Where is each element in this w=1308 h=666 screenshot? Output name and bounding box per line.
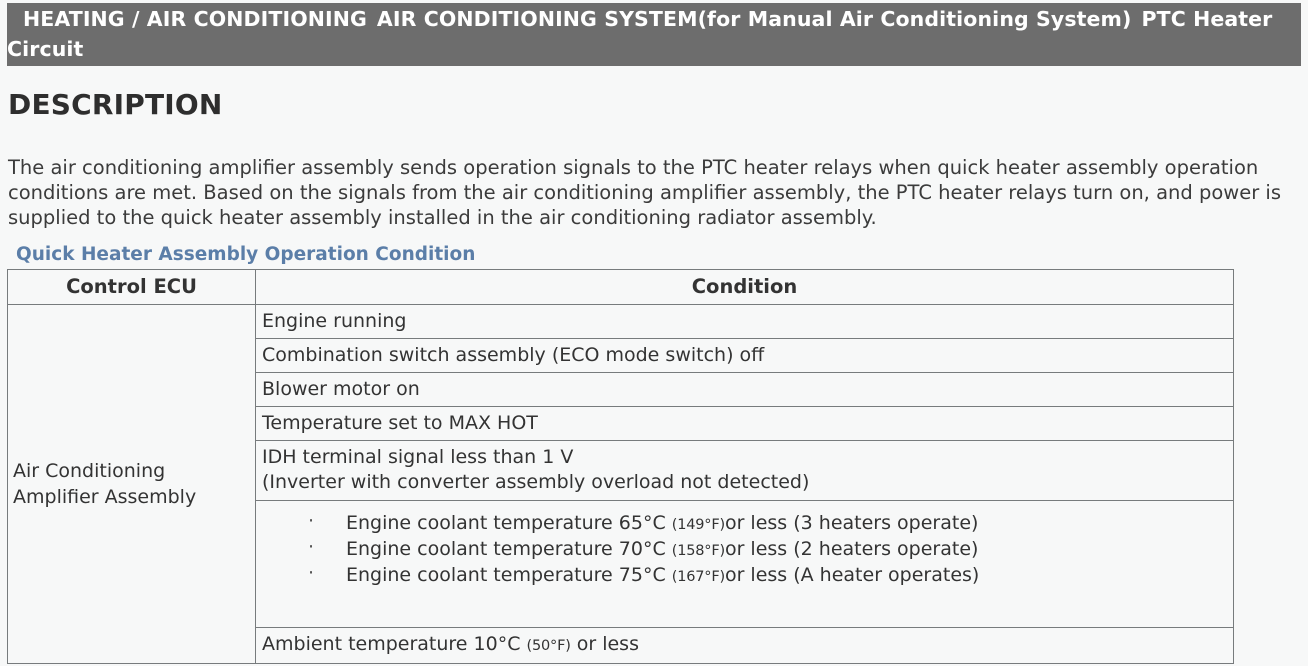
bullet-unit-1: (149°F) [672, 517, 725, 533]
bullet-unit-3: (167°F) [672, 569, 725, 585]
column-header-condition: Condition [256, 270, 1234, 305]
bullet-prefix-1: Engine coolant temperature 65°C [346, 512, 666, 534]
ambient-unit: (50°F) [527, 638, 571, 654]
list-item: Engine coolant temperature 65°C (149°F)o… [308, 511, 1233, 537]
list-item: Engine coolant temperature 70°C (158°F)o… [308, 537, 1233, 563]
bullet-suffix-2: or less (2 heaters operate) [725, 538, 978, 560]
ecu-label-line1: Air Conditioning [13, 458, 255, 484]
bullet-suffix-3: or less (A heater operates) [725, 564, 979, 586]
idh-line2: (Inverter with converter assembly overlo… [262, 470, 1233, 495]
table-row: Air Conditioning Amplifier Assembly Engi… [8, 305, 1234, 339]
breadcrumb-segment-system: HEATING / AIR CONDITIONING [7, 7, 367, 31]
cell-condition-ambient-temperature: Ambient temperature 10°C (50°F) or less [256, 628, 1234, 664]
section-subheading: Quick Heater Assembly Operation Conditio… [16, 244, 1308, 265]
table-header-row: Control ECU Condition [8, 270, 1234, 305]
bullet-unit-2: (158°F) [672, 543, 725, 559]
cell-condition-engine-running: Engine running [256, 305, 1234, 339]
cell-condition-eco-switch: Combination switch assembly (ECO mode sw… [256, 339, 1234, 373]
breadcrumb-segment-subsystem: AIR CONDITIONING SYSTEM(for Manual Air C… [367, 7, 1132, 31]
quick-heater-condition-table: Control ECU Condition Air Conditioning A… [7, 269, 1234, 664]
cell-control-ecu: Air Conditioning Amplifier Assembly [8, 305, 256, 664]
ecu-label-line2: Amplifier Assembly [13, 484, 255, 510]
page-title: DESCRIPTION [8, 88, 1308, 121]
description-paragraph: The air conditioning amplifier assembly … [8, 155, 1298, 230]
ambient-prefix: Ambient temperature 10°C [262, 633, 520, 655]
breadcrumb-titlebar: HEATING / AIR CONDITIONINGAIR CONDITIONI… [7, 3, 1301, 66]
idh-line1: IDH terminal signal less than 1 V [262, 445, 1233, 470]
column-header-control-ecu: Control ECU [8, 270, 256, 305]
coolant-temperature-list: Engine coolant temperature 65°C (149°F)o… [262, 511, 1233, 589]
cell-condition-coolant-temperatures: Engine coolant temperature 65°C (149°F)o… [256, 501, 1234, 628]
bullet-prefix-3: Engine coolant temperature 75°C [346, 564, 666, 586]
bullet-suffix-1: or less (3 heaters operate) [725, 512, 978, 534]
cell-condition-blower-motor: Blower motor on [256, 373, 1234, 407]
list-item: Engine coolant temperature 75°C (167°F)o… [308, 563, 1233, 589]
ambient-suffix: or less [577, 633, 639, 655]
bullet-prefix-2: Engine coolant temperature 70°C [346, 538, 666, 560]
cell-condition-idh-terminal: IDH terminal signal less than 1 V (Inver… [256, 441, 1234, 501]
cell-condition-max-hot: Temperature set to MAX HOT [256, 407, 1234, 441]
